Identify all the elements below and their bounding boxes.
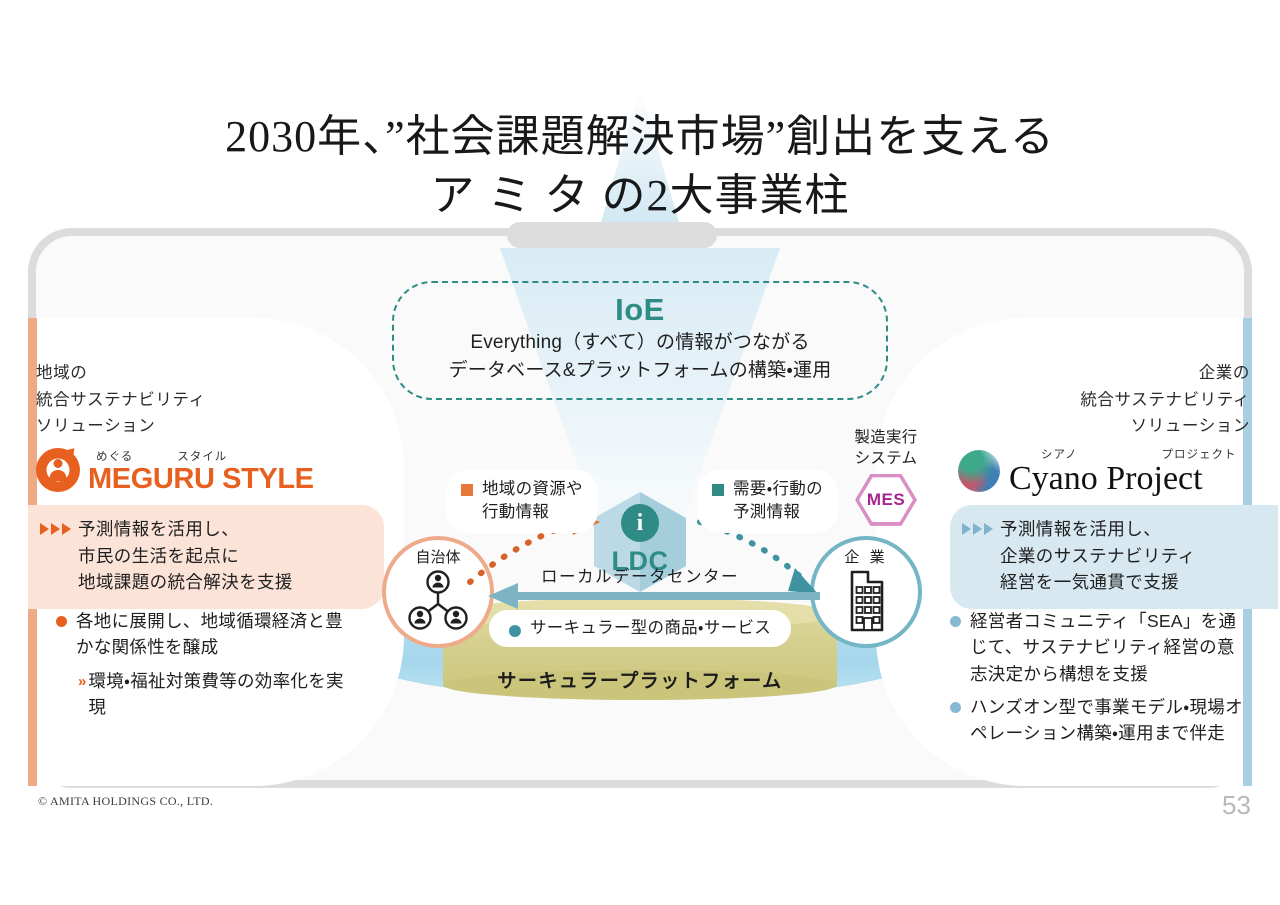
left-highlight-line-1: 予測情報を活用し、 <box>78 516 293 543</box>
cyano-sphere-icon <box>958 450 1000 492</box>
right-bullet-list: 経営者コミュニティ「SEA」を通じて、サステナビリティ経営の意志決定から構想を支… <box>950 608 1250 753</box>
left-subbullet-0-text: 環境・福祉対策費等の効率化を実現 <box>88 668 356 721</box>
flow-label-right: 需要・行動の 予測情報 <box>697 470 838 533</box>
right-highlight-box: 予測情報を活用し、 企業のサステナビリティ 経営を一気通貫で支援 <box>950 505 1278 609</box>
cyano-project-logo: シアノ プロジェクト Cyano Project <box>958 446 1236 496</box>
flow-right-line-2: 予測情報 <box>733 501 823 524</box>
list-item: 経営者コミュニティ「SEA」を通じて、サステナビリティ経営の意志決定から構想を支… <box>950 608 1250 687</box>
right-heading-line-3: ソリューション <box>960 413 1250 440</box>
bullet-dot-orange-icon <box>56 616 67 627</box>
meguru-furigana-1: めぐる <box>96 448 133 464</box>
mes-badge-group: 製造実行 システム MES <box>854 428 917 526</box>
page-title: 2030年、”社会課題解決市場”創出を支える ア ミ タ の2大事業柱 <box>0 108 1280 225</box>
meguru-furigana: めぐる スタイル <box>88 448 314 464</box>
hub-sublabel: ローカルデータセンター <box>541 563 739 587</box>
title-line-1: 2030年、”社会課題解決市場”創出を支える <box>0 108 1280 167</box>
copyright-notice: © AMITA HOLDINGS CO., LTD. <box>38 794 213 809</box>
mes-caption-line-1: 製造実行 <box>854 428 917 449</box>
ioe-box: IoE Everything（すべて）の情報がつながる データベース&プラットフ… <box>392 281 888 400</box>
dot-marker-teal-icon <box>509 625 521 637</box>
right-panel-heading: 企業の 統合サステナビリティ ソリューション <box>960 360 1250 440</box>
right-heading-line-1: 企業の <box>960 360 1250 387</box>
meguru-style-logo: めぐる スタイル MEGURU STYLE <box>36 448 314 494</box>
square-marker-teal-icon <box>712 484 724 496</box>
left-highlight-line-2: 市民の生活を起点に <box>78 543 293 570</box>
mes-label: MES <box>855 474 917 526</box>
meguru-wordmark: MEGURU STYLE <box>88 465 314 494</box>
node-local-government: 自治体 <box>382 536 494 648</box>
list-item: » 環境・福祉対策費等の効率化を実現 <box>78 668 356 721</box>
flow-bottom-text: サーキュラー型の商品・サービス <box>530 617 771 640</box>
list-item: ハンズオン型で事業モデル・現場オペレーション構築・運用まで伴走 <box>950 694 1250 747</box>
flow-left-line-2: 行動情報 <box>482 501 583 524</box>
bullet-dot-blue-icon <box>950 702 961 713</box>
right-bullet-0-text: 経営者コミュニティ「SEA」を通じて、サステナビリティ経営の意志決定から構想を支… <box>970 608 1250 687</box>
triple-triangle-blue-icon <box>962 516 993 535</box>
ioe-line-2: データベース&プラットフォームの構築・運用 <box>394 357 886 385</box>
node-corp-title: 企 業 <box>844 546 887 567</box>
node-enterprise: 企 業 <box>810 536 922 648</box>
title-line-2: ア ミ タ の2大事業柱 <box>0 167 1280 226</box>
right-highlight-line-1: 予測情報を活用し、 <box>1000 516 1196 543</box>
node-gov-title: 自治体 <box>415 546 460 567</box>
double-chevron-orange-icon: » <box>78 671 83 721</box>
flow-right-line-1: 需要・行動の <box>733 478 823 501</box>
left-highlight-box: 予測情報を活用し、 市民の生活を起点に 地域課題の統合解決を支援 <box>28 505 384 609</box>
platform-label: サーキュラープラットフォーム <box>497 666 782 693</box>
flow-label-left: 地域の資源や 行動情報 <box>446 470 598 533</box>
ioe-heading: IoE <box>394 293 886 327</box>
mes-caption: 製造実行 システム <box>854 428 917 470</box>
left-heading-line-2: 統合サステナビリティ <box>36 387 206 414</box>
meguru-circular-arrow-icon <box>36 448 80 492</box>
left-heading-line-3: ソリューション <box>36 413 206 440</box>
office-building-icon <box>838 566 894 632</box>
page-number: 53 <box>1222 790 1251 821</box>
meguru-furigana-2: スタイル <box>177 448 227 464</box>
slide-canvas: 2030年、”社会課題解決市場”創出を支える ア ミ タ の2大事業柱 IoE … <box>0 0 1280 905</box>
square-marker-orange-icon <box>461 484 473 496</box>
left-panel-heading: 地域の 統合サステナビリティ ソリューション <box>36 360 206 440</box>
right-highlight-line-3: 経営を一気通貫で支援 <box>1000 569 1196 596</box>
left-bullet-0-text: 各地に展開し、地域循環経済と豊かな関係性を醸成 <box>76 608 356 661</box>
flow-label-bottom: サーキュラー型の商品・サービス <box>489 610 791 647</box>
ioe-line-1: Everything（すべて）の情報がつながる <box>394 329 886 357</box>
people-network-icon <box>405 568 471 632</box>
right-highlight-line-2: 企業のサステナビリティ <box>1000 543 1196 570</box>
flow-left-line-1: 地域の資源や <box>482 478 583 501</box>
frame-tab-notch <box>507 222 717 248</box>
right-heading-line-2: 統合サステナビリティ <box>960 387 1250 414</box>
left-bullet-list: 各地に展開し、地域循環経済と豊かな関係性を醸成 » 環境・福祉対策費等の効率化を… <box>56 608 356 720</box>
info-icon: i <box>621 504 659 542</box>
bullet-dot-blue-icon <box>950 616 961 627</box>
cyano-wordmark: Cyano Project <box>1009 461 1236 496</box>
left-heading-line-1: 地域の <box>36 360 206 387</box>
mes-hexagon: MES <box>855 474 917 526</box>
right-bullet-1-text: ハンズオン型で事業モデル・現場オペレーション構築・運用まで伴走 <box>970 694 1250 747</box>
list-item: 各地に展開し、地域循環経済と豊かな関係性を醸成 <box>56 608 356 661</box>
left-highlight-line-3: 地域課題の統合解決を支援 <box>78 569 293 596</box>
triple-triangle-orange-icon <box>40 516 71 535</box>
mes-caption-line-2: システム <box>854 449 917 470</box>
